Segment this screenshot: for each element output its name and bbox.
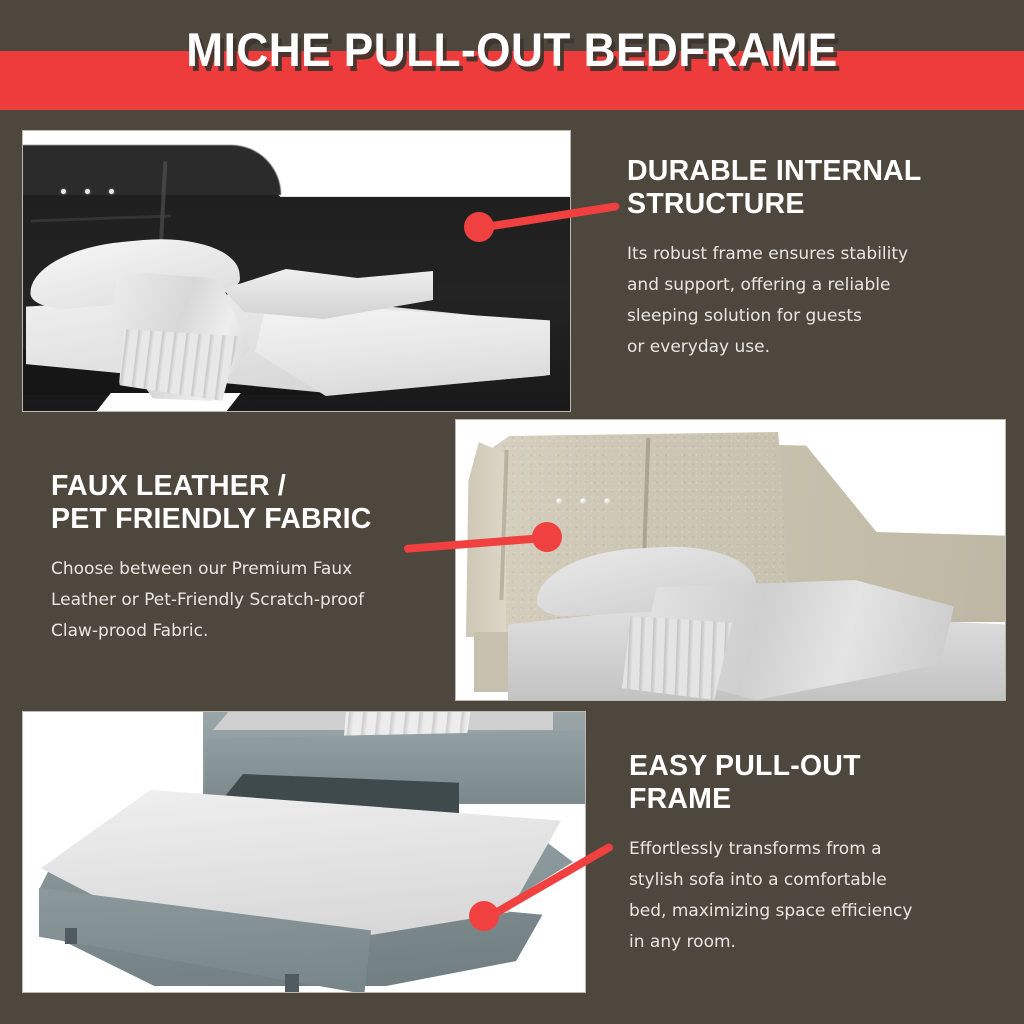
beige-daybed-illustration (456, 420, 1005, 700)
throw-blanket-folds (622, 616, 732, 700)
infographic-page: MICHE PULL-OUT BEDFRAME DURABLE INTERNAL… (0, 0, 1024, 1024)
feature-body-3: Effortlessly transforms from a stylish s… (629, 834, 1009, 958)
trundle-pullout-illustration (23, 712, 585, 992)
headboard-buttons (61, 181, 133, 199)
black-daybed-photo (23, 131, 570, 411)
feature-body-1: Its robust frame ensures stability and s… (627, 239, 1007, 363)
trundle-pullout-photo (23, 712, 585, 992)
feature-heading-2: FAUX LEATHER / PET FRIENDLY FABRIC (51, 470, 451, 536)
page-title: MICHE PULL-OUT BEDFRAME (31, 22, 994, 78)
trundle-foot-right (285, 974, 299, 992)
feature-heading-3: EASY PULL-OUT FRAME (629, 750, 1009, 816)
feature-block-durable-internal-structure: DURABLE INTERNAL STRUCTURE Its robust fr… (627, 155, 1007, 363)
black-daybed-illustration (23, 131, 570, 411)
feature-block-faux-leather-pet-friendly-fabric: FAUX LEATHER / PET FRIENDLY FABRIC Choos… (51, 470, 451, 647)
beige-daybed-photo (456, 420, 1005, 700)
trundle-foot-left (65, 928, 77, 944)
feature-heading-1: DURABLE INTERNAL STRUCTURE (627, 155, 1007, 221)
feature-block-easy-pull-out-frame: EASY PULL-OUT FRAME Effortlessly transfo… (629, 750, 1009, 958)
feature-body-2: Choose between our Premium Faux Leather … (51, 554, 451, 647)
headboard-buttons (556, 492, 628, 510)
